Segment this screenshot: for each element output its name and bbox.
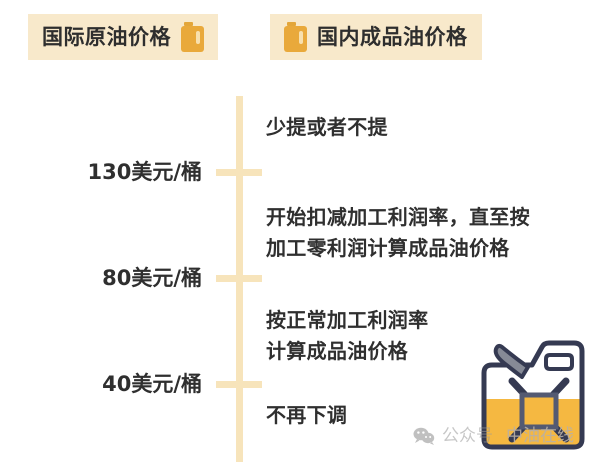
jerry-can-stripe bbox=[196, 31, 200, 44]
jerry-can-center-panel bbox=[522, 395, 556, 427]
jerry-can-handle bbox=[546, 355, 572, 369]
timeline-tick-40 bbox=[216, 381, 262, 388]
jerry-can-stripe bbox=[299, 31, 303, 44]
jerry-can-body bbox=[181, 26, 204, 52]
price-label: 130美元/桶 bbox=[62, 162, 202, 183]
statement-line: 少提或者不提 bbox=[266, 112, 388, 143]
wechat-icon bbox=[413, 427, 435, 445]
price-label: 40美元/桶 bbox=[62, 374, 202, 395]
statement-line: 开始扣减加工利润率，直至按 bbox=[266, 202, 530, 233]
statement-80-to-130: 开始扣减加工利润率，直至按 加工零利润计算成品油价格 bbox=[266, 202, 530, 264]
price-label: 80美元/桶 bbox=[62, 268, 202, 289]
statement-line: 按正常加工利润率 bbox=[266, 305, 428, 336]
statement-above-130: 少提或者不提 bbox=[266, 112, 388, 143]
watermark: 公众号 bbox=[413, 427, 493, 445]
badge-domestic-refined-price: 国内成品油价格 bbox=[270, 14, 482, 60]
statement-line: 不再下调 bbox=[266, 400, 347, 431]
statement-40-to-80: 按正常加工利润率 计算成品油价格 bbox=[266, 305, 428, 367]
jerry-can-icon bbox=[181, 22, 204, 52]
jerry-can-body bbox=[284, 26, 307, 52]
jerry-can-icon bbox=[284, 22, 307, 52]
statement-below-40: 不再下调 bbox=[266, 400, 347, 431]
watermark-label: 公众号 bbox=[442, 428, 493, 445]
statement-line: 计算成品油价格 bbox=[266, 336, 428, 367]
jerry-can-spout bbox=[496, 346, 528, 377]
badge-label: 国际原油价格 bbox=[42, 27, 171, 48]
timeline-tick-130 bbox=[216, 169, 262, 176]
badge-international-crude-price: 国际原油价格 bbox=[28, 14, 218, 60]
statement-line: 加工零利润计算成品油价格 bbox=[266, 233, 530, 264]
watermark-brand: 中油在线 bbox=[506, 428, 574, 445]
timeline-tick-80 bbox=[216, 275, 262, 282]
badge-label: 国内成品油价格 bbox=[317, 27, 468, 48]
